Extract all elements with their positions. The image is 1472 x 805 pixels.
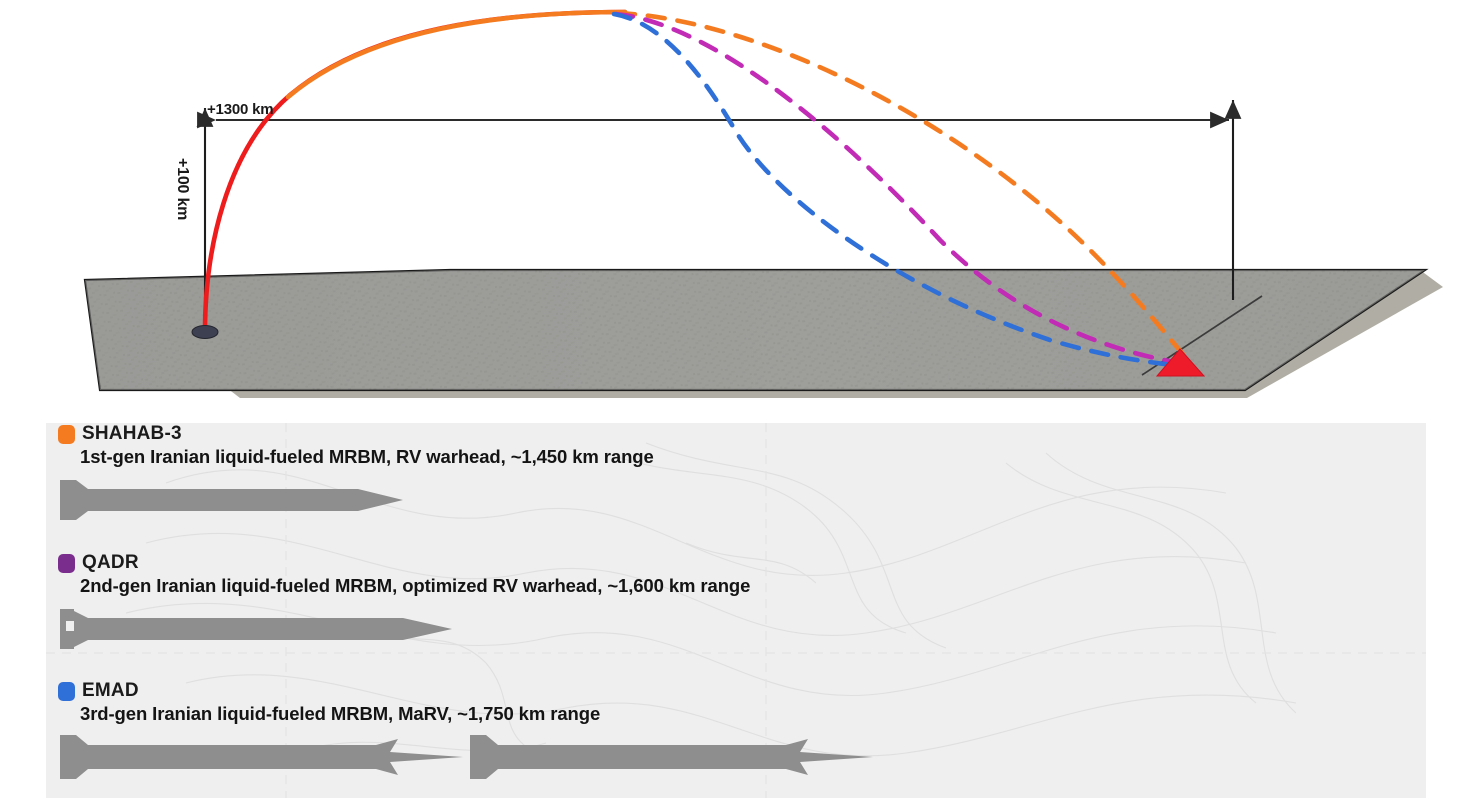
midcourse-orange-segment	[288, 12, 625, 97]
missile-icon	[58, 727, 878, 787]
legend-item-emad[interactable]: EMAD 3rd-gen Iranian liquid-fueled MRBM,…	[58, 680, 600, 791]
color-swatch-icon	[58, 425, 75, 444]
legend-head-emad: EMAD	[58, 680, 600, 702]
launch-site-dot	[192, 326, 218, 339]
altitude-scale-label: +100 km	[173, 158, 191, 220]
legend-title-qadr: QADR	[82, 552, 139, 574]
legend-item-qadr[interactable]: QADR 2nd-gen Iranian liquid-fueled MRBM,…	[58, 552, 750, 663]
legend-item-shahab-3[interactable]: SHAHAB-3 1st-gen Iranian liquid-fueled M…	[58, 423, 654, 534]
missile-silhouette-row-shahab-3	[58, 470, 654, 534]
legend-head-shahab-3: SHAHAB-3	[58, 423, 654, 445]
missile-silhouette-row-qadr	[58, 599, 750, 663]
color-swatch-icon	[58, 682, 75, 701]
legend-head-qadr: QADR	[58, 552, 750, 574]
missile-icon	[58, 470, 408, 530]
legend-description-qadr: 2nd-gen Iranian liquid-fueled MRBM, opti…	[80, 575, 750, 597]
missile-legend-panel: SHAHAB-3 1st-gen Iranian liquid-fueled M…	[46, 423, 1426, 798]
legend-title-shahab-3: SHAHAB-3	[82, 423, 182, 445]
color-swatch-icon	[58, 554, 75, 573]
legend-title-emad: EMAD	[82, 680, 139, 702]
apogee-altitude-label: +1300 km	[207, 101, 273, 118]
legend-description-shahab-3: 1st-gen Iranian liquid-fueled MRBM, RV w…	[80, 446, 654, 468]
missile-silhouette-row-emad	[58, 727, 600, 791]
legend-description-emad: 3rd-gen Iranian liquid-fueled MRBM, MaRV…	[80, 703, 600, 725]
trajectory-diagram	[0, 0, 1472, 415]
terrain-plane	[85, 270, 1443, 398]
trajectory-scene: +1300 km +100 km	[0, 0, 1472, 415]
infographic-root: +1300 km +100 km	[0, 0, 1472, 805]
missile-icon	[58, 599, 458, 659]
